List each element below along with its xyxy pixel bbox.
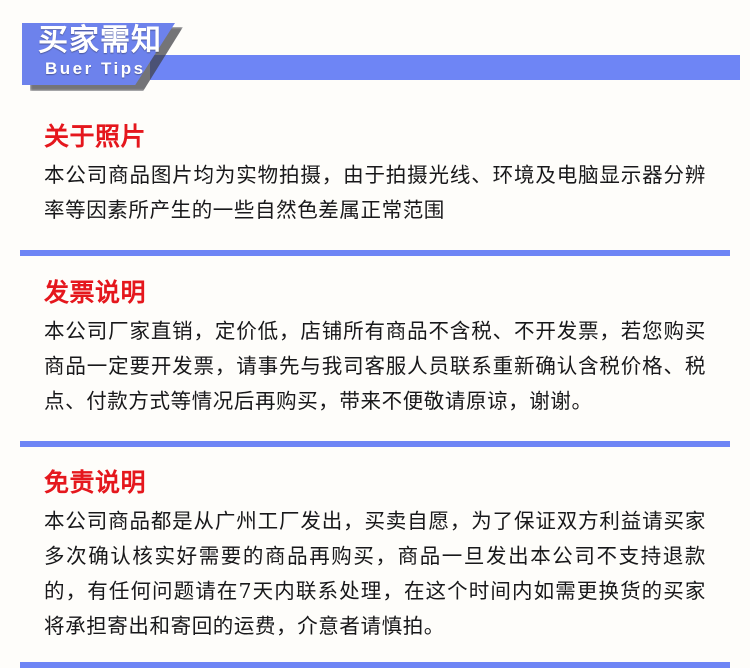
section-heading-disclaimer: 免责说明 <box>44 468 706 498</box>
section-body-invoice: 本公司厂家直销，定价低，店铺所有商品不含税、不开发票，若您购买商品一定要开发票，… <box>44 314 706 419</box>
section-invoice: 发票说明 本公司厂家直销，定价低，店铺所有商品不含税、不开发票，若您购买商品一定… <box>0 256 750 419</box>
spacer-after-section-3 <box>0 644 750 662</box>
section-disclaimer: 免责说明 本公司商品都是从广州工厂发出，买卖自愿，为了保证双方利益请买家多次确认… <box>0 447 750 644</box>
section-heading-about-photos: 关于照片 <box>44 122 706 152</box>
section-heading-invoice: 发票说明 <box>44 278 706 308</box>
header-banner: 买家需知 Buer Tips <box>0 0 750 100</box>
section-body-disclaimer: 本公司商品都是从广州工厂发出，买卖自愿，为了保证双方利益请买家多次确认核实好需要… <box>44 504 706 644</box>
banner-text-group: 买家需知 Buer Tips <box>22 23 175 85</box>
content-area: 关于照片 本公司商品图片均为实物拍摄，由于拍摄光线、环境及电脑显示器分辨率等因素… <box>0 100 750 668</box>
section-about-photos: 关于照片 本公司商品图片均为实物拍摄，由于拍摄光线、环境及电脑显示器分辨率等因素… <box>0 100 750 228</box>
spacer-after-section-2 <box>0 419 750 441</box>
section-body-about-photos: 本公司商品图片均为实物拍摄，由于拍摄光线、环境及电脑显示器分辨率等因素所产生的一… <box>44 158 706 228</box>
banner-title-english: Buer Tips <box>45 59 146 79</box>
divider-3 <box>20 662 730 668</box>
banner-bar <box>150 55 740 80</box>
banner-title-chinese: 买家需知 <box>38 23 162 59</box>
spacer-after-section-1 <box>0 228 750 250</box>
